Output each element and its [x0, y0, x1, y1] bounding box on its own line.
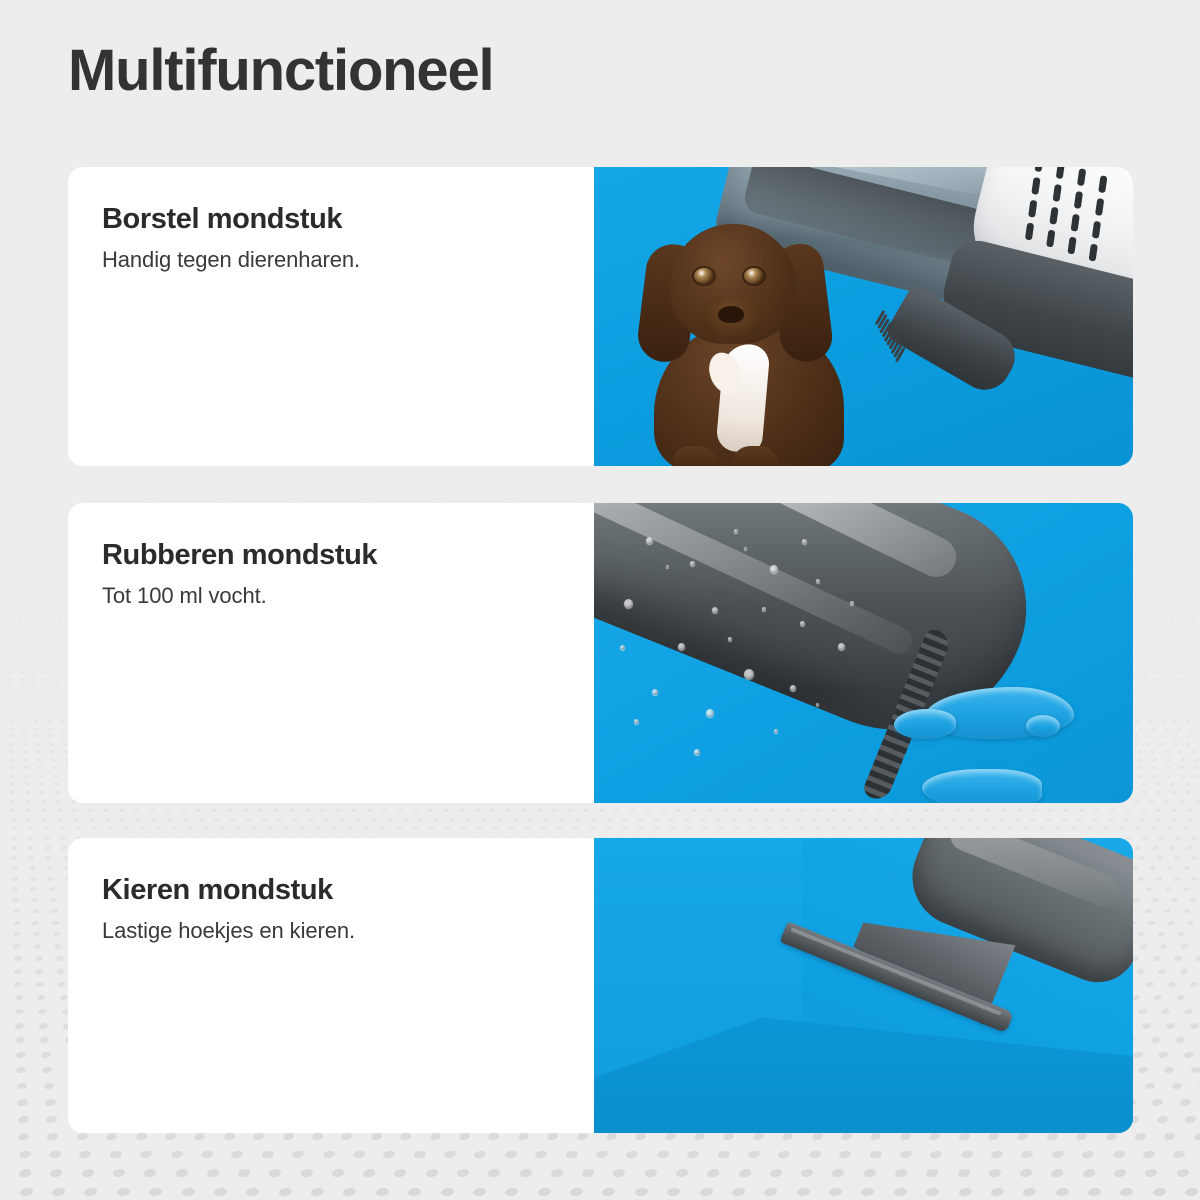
feature-card-text: Rubberen mondstuk Tot 100 ml vocht. — [68, 503, 594, 803]
puppy-illustration — [636, 210, 866, 466]
puppy-eye-right — [744, 268, 764, 284]
feature-card-title: Borstel mondstuk — [102, 203, 560, 236]
feature-card-kieren-mondstuk[interactable]: Kieren mondstuk Lastige hoekjes en kiere… — [68, 838, 1133, 1133]
feature-card-subtitle: Lastige hoekjes en kieren. — [102, 918, 560, 944]
page-title: Multifunctioneel — [68, 40, 493, 103]
feature-card-subtitle: Tot 100 ml vocht. — [102, 583, 560, 609]
feature-card-subtitle: Handig tegen dierenharen. — [102, 247, 560, 273]
puppy-nose — [718, 306, 744, 323]
feature-card-image-crevice-nozzle — [594, 838, 1133, 1133]
feature-card-title: Rubberen mondstuk — [102, 539, 560, 572]
puppy-paw-left — [672, 446, 718, 466]
feature-card-borstel-mondstuk[interactable]: Borstel mondstuk Handig tegen dierenhare… — [68, 167, 1133, 466]
feature-card-image-puppy-with-brush-nozzle — [594, 167, 1133, 466]
feature-card-text: Borstel mondstuk Handig tegen dierenhare… — [68, 167, 594, 466]
puppy-paw-right — [732, 446, 778, 466]
feature-card-text: Kieren mondstuk Lastige hoekjes en kiere… — [68, 838, 594, 1133]
water-puddle-bottom — [922, 769, 1042, 803]
feature-card-image-wet-rubber-nozzle — [594, 503, 1133, 803]
water-puddle-small — [1026, 715, 1060, 737]
feature-card-rubberen-mondstuk[interactable]: Rubberen mondstuk Tot 100 ml vocht. — [68, 503, 1133, 803]
puppy-eye-left — [694, 268, 714, 284]
feature-card-title: Kieren mondstuk — [102, 874, 560, 907]
vacuum-vent-slots — [1023, 167, 1133, 266]
product-feature-page: Multifunctioneel Borstel mondstuk Handig… — [0, 0, 1200, 1200]
water-puddle-medium — [894, 709, 956, 739]
